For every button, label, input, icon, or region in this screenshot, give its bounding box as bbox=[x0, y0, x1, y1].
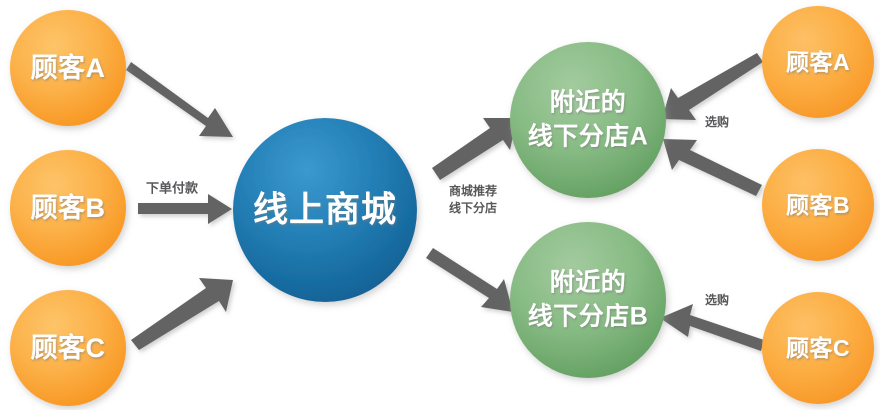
customer-c-right-label: 顾客C bbox=[786, 335, 850, 361]
node-customer-c-right[interactable]: 顾客C bbox=[762, 292, 874, 404]
node-customer-b-right[interactable]: 顾客B bbox=[762, 149, 874, 261]
diagram-canvas: 顾客A 顾客B 顾客C 线上商城 附近的 线下分店A 附近的 线下分店B bbox=[0, 0, 880, 410]
node-customer-a-right[interactable]: 顾客A bbox=[762, 6, 874, 118]
customer-c-left-label: 顾客C bbox=[31, 332, 106, 363]
arrow-layer bbox=[126, 53, 764, 351]
edge-label-mall-recommend-line2: 线下分店 bbox=[449, 200, 497, 215]
store-a-circle[interactable] bbox=[510, 42, 666, 198]
arrow-mall-to-store-a bbox=[432, 118, 517, 180]
arrow-customer-b-left-to-mall bbox=[138, 194, 232, 224]
node-customer-c-left[interactable]: 顾客C bbox=[10, 290, 126, 406]
store-b-circle[interactable] bbox=[510, 222, 666, 378]
arrow-mall-to-store-b bbox=[426, 248, 513, 312]
store-a-label-line2: 线下分店A bbox=[528, 122, 649, 151]
store-a-label-line1: 附近的 bbox=[550, 88, 627, 117]
store-b-label-line1: 附近的 bbox=[550, 268, 627, 297]
edge-label-purchase-top: 选购 bbox=[705, 114, 729, 129]
arrow-customer-b-right-to-store-a bbox=[663, 139, 762, 196]
store-b-label-line2: 线下分店B bbox=[528, 302, 649, 331]
node-store-a[interactable]: 附近的 线下分店A bbox=[510, 42, 666, 198]
customer-a-left-label: 顾客A bbox=[31, 52, 106, 83]
customer-b-left-label: 顾客B bbox=[31, 192, 106, 223]
arrow-customer-c-right-to-store-b bbox=[660, 304, 764, 351]
arrow-customer-a-right-to-store-a bbox=[662, 53, 763, 120]
customer-a-right-label: 顾客A bbox=[786, 49, 850, 75]
arrow-customer-a-left-to-mall bbox=[126, 62, 233, 137]
customer-b-right-label: 顾客B bbox=[786, 192, 850, 218]
node-online-mall[interactable]: 线上商城 bbox=[233, 118, 417, 302]
edge-label-order-payment: 下单付款 bbox=[146, 180, 199, 195]
node-customer-a-left[interactable]: 顾客A bbox=[10, 10, 126, 126]
edge-label-mall-recommend-line1: 商城推荐 bbox=[449, 183, 497, 198]
online-mall-label: 线上商城 bbox=[253, 190, 397, 229]
node-store-b[interactable]: 附近的 线下分店B bbox=[510, 222, 666, 378]
node-customer-b-left[interactable]: 顾客B bbox=[10, 150, 126, 266]
flow-diagram: 顾客A 顾客B 顾客C 线上商城 附近的 线下分店A 附近的 线下分店B bbox=[0, 0, 880, 410]
edge-label-purchase-bottom: 选购 bbox=[705, 292, 729, 307]
arrow-customer-c-left-to-mall bbox=[131, 278, 233, 350]
